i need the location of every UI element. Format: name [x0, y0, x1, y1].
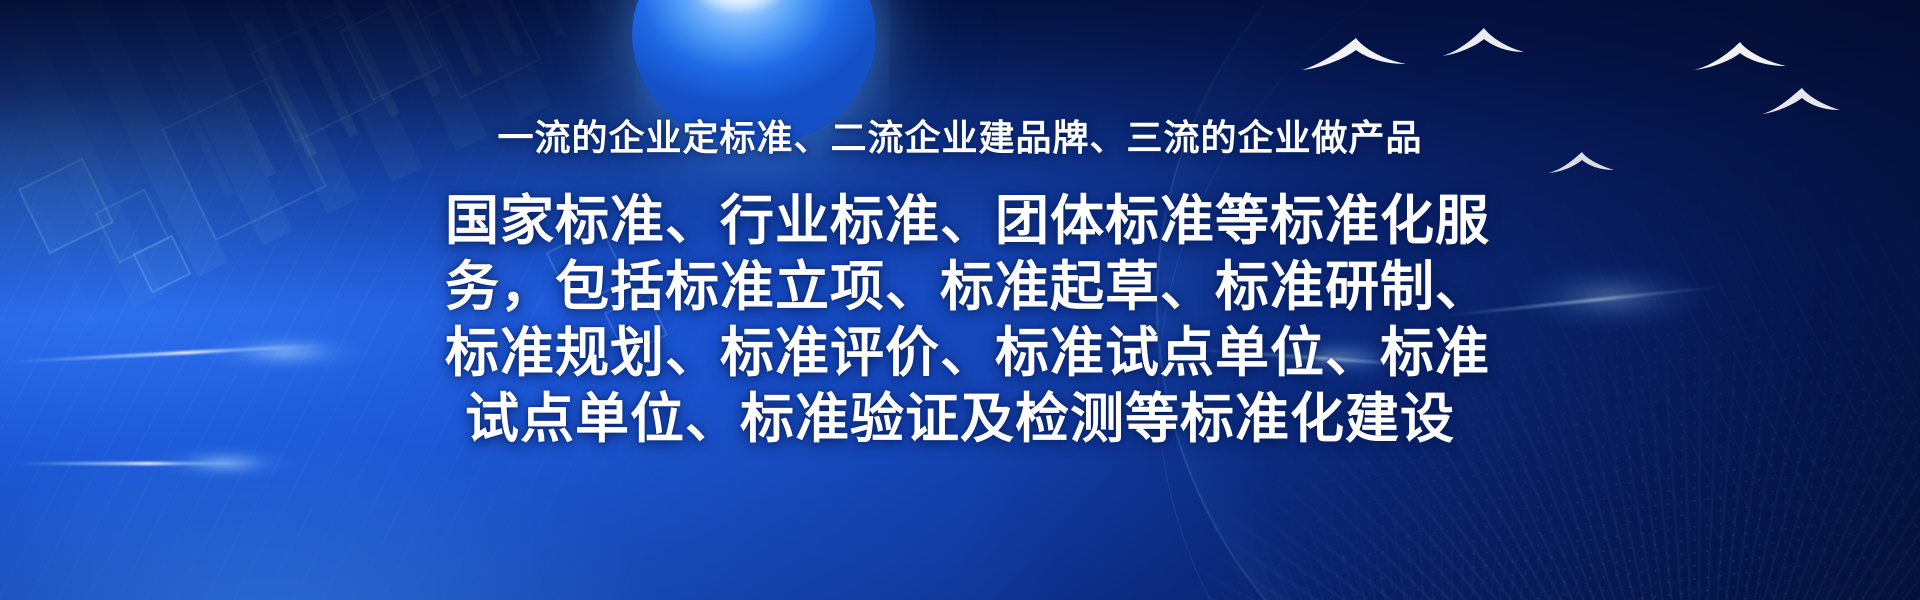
light-streak-glow [130, 440, 320, 486]
banner-body-line-4: 试点单位、标准验证及检测等标准化建设 [445, 386, 1475, 452]
light-streak-glow [1480, 252, 1740, 342]
seagull-icon [1300, 34, 1410, 78]
banner-body-line-3: 标准规划、标准评价、标准试点单位、标准 [445, 320, 1475, 386]
banner-body-text: 国家标准、行业标准、团体标准等标准化服 务，包括标准立项、标准起草、标准研制、 … [445, 188, 1475, 452]
promotional-banner: 一流的企业定标准、二流企业建品牌、三流的企业做产品 国家标准、行业标准、团体标准… [0, 0, 1920, 600]
seagull-icon [1440, 26, 1526, 66]
banner-headline: 一流的企业定标准、二流企业建品牌、三流的企业做产品 [0, 118, 1920, 158]
light-streak-glow [170, 324, 400, 380]
banner-body-line-1: 国家标准、行业标准、团体标准等标准化服 [445, 188, 1475, 254]
seagull-icon [1692, 40, 1788, 80]
seagull-icon [1760, 86, 1842, 122]
banner-body-line-2: 务，包括标准立项、标准起草、标准研制、 [445, 254, 1475, 320]
